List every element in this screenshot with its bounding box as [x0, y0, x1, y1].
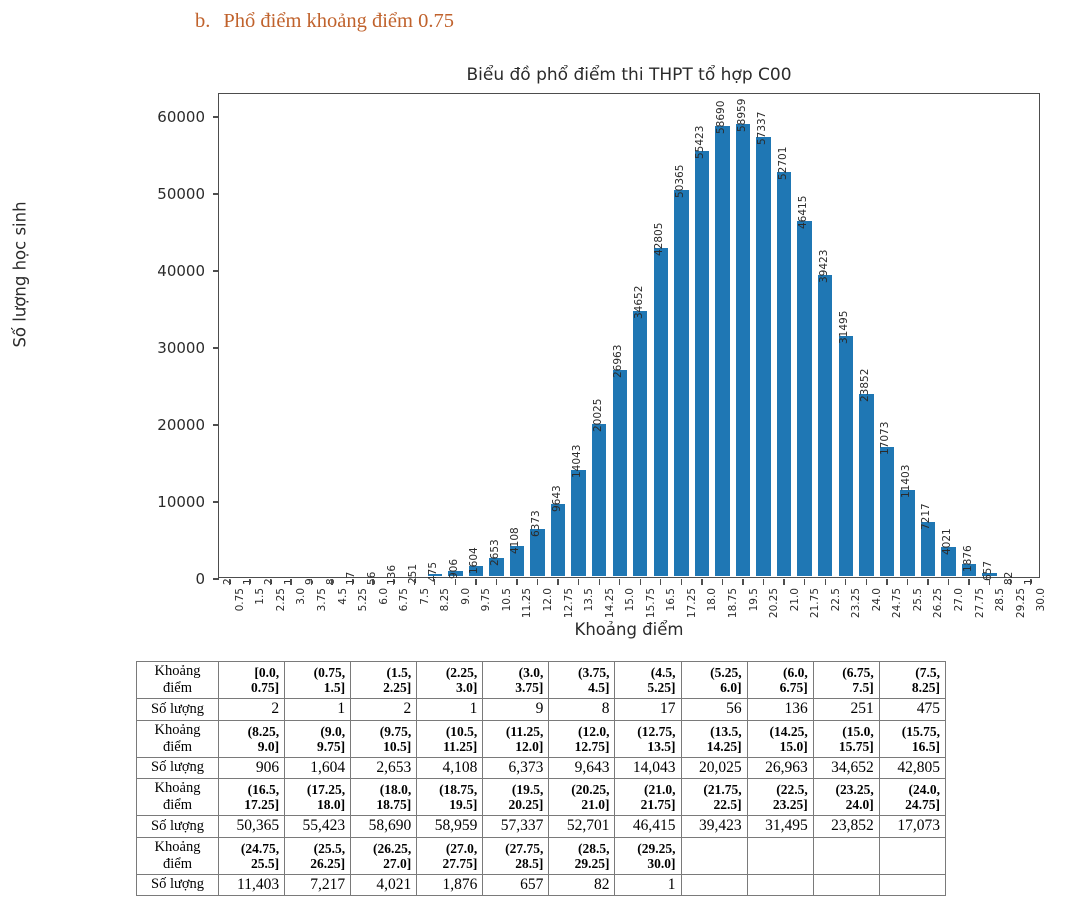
x-tick-label: 6.0: [378, 588, 390, 605]
table-cell-empty: [681, 874, 747, 895]
bar-value-label: 58690: [715, 101, 727, 134]
x-tick-label: 30.0: [1035, 588, 1047, 611]
x-tick-mark: [557, 579, 558, 585]
row-header-interval: Khoảngđiểm: [137, 662, 219, 699]
table-cell-count: 7,217: [285, 874, 351, 895]
bar: [858, 393, 874, 577]
y-tick-mark: [213, 347, 219, 348]
x-tick-mark: [681, 579, 682, 585]
x-tick-mark: [270, 579, 271, 585]
table-cell-interval: (14.25, 15.0]: [747, 720, 813, 757]
x-tick-mark: [1010, 579, 1011, 585]
table-row: Khoảngđiểm(16.5, 17.25](17.25, 18.0](18.…: [137, 779, 946, 816]
table-cell-interval: (0.75, 1.5]: [285, 662, 351, 699]
x-tick-mark: [475, 579, 476, 585]
x-tick-mark: [640, 579, 641, 585]
table-cell-interval: (24.0, 24.75]: [879, 779, 945, 816]
bar-value-label: 14043: [571, 444, 583, 477]
table-row: Số lượng2121981756136251475: [137, 699, 946, 720]
table-cell-count: 251: [813, 699, 879, 720]
row-header-interval: Khoảngđiểm: [137, 720, 219, 757]
bar-value-label: 31495: [838, 310, 850, 343]
y-axis-label: Số lượng học sinh: [11, 145, 30, 405]
table-cell-interval: (18.0, 18.75]: [351, 779, 417, 816]
table-cell-count: 6,373: [483, 757, 549, 778]
x-tick-label: 23.25: [850, 588, 862, 618]
x-tick-mark: [434, 579, 435, 585]
bar-value-label: 906: [448, 559, 460, 579]
table-cell-count: 39,423: [681, 816, 747, 837]
bar: [899, 489, 915, 577]
table-cell-empty: [879, 837, 945, 874]
bar-value-label: 58959: [736, 99, 748, 132]
x-tick-mark: [742, 579, 743, 585]
bar: [303, 575, 319, 577]
row-header-count: Số lượng: [137, 816, 219, 837]
bar: [221, 575, 237, 577]
x-tick-label: 15.0: [624, 588, 636, 611]
table-cell-empty: [813, 837, 879, 874]
x-tick-mark: [311, 579, 312, 585]
table-cell-count: 9,643: [549, 757, 615, 778]
table-cell-count: 82: [549, 874, 615, 895]
bar-value-label: 55423: [694, 126, 706, 159]
x-tick-mark: [578, 579, 579, 585]
table-cell-interval: (15.75, 16.5]: [879, 720, 945, 757]
table-cell-interval: (16.5, 17.25]: [219, 779, 285, 816]
table-cell-count: 14,043: [615, 757, 681, 778]
x-tick-label: 24.75: [891, 588, 903, 618]
x-tick-mark: [866, 579, 867, 585]
x-tick-label: 10.5: [501, 588, 513, 611]
x-tick-mark: [537, 579, 538, 585]
x-tick-label: 0.75: [234, 588, 246, 611]
table-cell-count: 42,805: [879, 757, 945, 778]
table-row: Số lượng11,4037,2174,0211,876657821: [137, 874, 946, 895]
bar: [591, 423, 607, 577]
table-cell-interval: (19.5, 20.25]: [483, 779, 549, 816]
table-cell-interval: (2.25, 3.0]: [417, 662, 483, 699]
y-tick-mark: [213, 578, 219, 579]
x-tick-label: 26.25: [932, 588, 944, 618]
x-tick-mark: [783, 579, 784, 585]
x-tick-mark: [455, 579, 456, 585]
x-tick-mark: [1030, 579, 1031, 585]
table-cell-interval: [0.0, 0.75]: [219, 662, 285, 699]
bar-value-label: 17073: [879, 421, 891, 454]
x-tick-label: 9.0: [460, 588, 472, 605]
table-cell-interval: (11.25, 12.0]: [483, 720, 549, 757]
x-tick-label: 18.0: [706, 588, 718, 611]
x-tick-mark: [927, 579, 928, 585]
table-cell-count: 9: [483, 699, 549, 720]
score-table-wrap: Khoảngđiểm[0.0, 0.75](0.75, 1.5](1.5, 2.…: [136, 661, 946, 896]
bar-value-label: 50365: [674, 165, 686, 198]
table-cell-interval: (12.0, 12.75]: [549, 720, 615, 757]
table-cell-interval: (9.75, 10.5]: [351, 720, 417, 757]
y-tick-label: 0: [115, 570, 205, 588]
bar: [283, 575, 299, 577]
y-tick-label: 60000: [115, 108, 205, 126]
table-cell-count: 1: [417, 699, 483, 720]
x-tick-label: 2.25: [275, 588, 287, 611]
x-tick-mark: [393, 579, 394, 585]
x-tick-label: 17.25: [686, 588, 698, 618]
bar: [262, 575, 278, 577]
table-cell-count: 475: [879, 699, 945, 720]
x-tick-label: 20.25: [768, 588, 780, 618]
table-cell-count: 31,495: [747, 816, 813, 837]
bar-value-label: 39423: [818, 249, 830, 282]
table-cell-count: 17,073: [879, 816, 945, 837]
x-tick-label: 6.75: [398, 588, 410, 611]
bar-value-label: 52701: [777, 147, 789, 180]
x-tick-label: 12.0: [542, 588, 554, 611]
table-cell-count: 2: [219, 699, 285, 720]
table-cell-count: 657: [483, 874, 549, 895]
score-distribution-table: Khoảngđiểm[0.0, 0.75](0.75, 1.5](1.5, 2.…: [136, 661, 946, 896]
table-cell-interval: (1.5, 2.25]: [351, 662, 417, 699]
table-cell-interval: (15.0, 15.75]: [813, 720, 879, 757]
x-tick-mark: [948, 579, 949, 585]
table-cell-interval: (7.5, 8.25]: [879, 662, 945, 699]
x-tick-label: 18.75: [727, 588, 739, 618]
table-cell-interval: (13.5, 14.25]: [681, 720, 747, 757]
section-heading: b. Phổ điểm khoảng điểm 0.75: [195, 10, 454, 33]
x-tick-mark: [701, 579, 702, 585]
page-root: b. Phổ điểm khoảng điểm 0.75 Biểu đồ phổ…: [0, 0, 1080, 908]
y-tick-mark: [213, 116, 219, 117]
bar-value-label: 6373: [530, 510, 542, 537]
bar-value-label: 2653: [489, 539, 501, 566]
table-cell-count: 11,403: [219, 874, 285, 895]
x-tick-mark: [516, 579, 517, 585]
x-tick-mark: [825, 579, 826, 585]
x-tick-mark: [229, 579, 230, 585]
x-tick-mark: [989, 579, 990, 585]
table-cell-count: 8: [549, 699, 615, 720]
x-tick-label: 3.0: [295, 588, 307, 605]
y-tick-label: 10000: [115, 493, 205, 511]
x-tick-label: 25.5: [912, 588, 924, 611]
table-cell-count: 52,701: [549, 816, 615, 837]
table-cell-interval: (3.75, 4.5]: [549, 662, 615, 699]
x-tick-mark: [249, 579, 250, 585]
x-tick-mark: [496, 579, 497, 585]
table-cell-count: 1: [285, 699, 351, 720]
table-cell-count: 23,852: [813, 816, 879, 837]
x-tick-mark: [619, 579, 620, 585]
table-cell-count: 58,959: [417, 816, 483, 837]
row-header-count: Số lượng: [137, 757, 219, 778]
table-cell-interval: (3.0, 3.75]: [483, 662, 549, 699]
x-tick-mark: [804, 579, 805, 585]
table-cell-count: 2: [351, 699, 417, 720]
bar-value-label: 42805: [653, 223, 665, 256]
x-tick-mark: [763, 579, 764, 585]
table-cell-empty: [747, 837, 813, 874]
table-cell-empty: [747, 874, 813, 895]
table-cell-count: 2,653: [351, 757, 417, 778]
x-tick-label: 3.75: [316, 588, 328, 611]
y-tick-label: 30000: [115, 339, 205, 357]
heading-marker: b.: [195, 10, 210, 33]
x-tick-label: 28.5: [994, 588, 1006, 611]
x-tick-label: 7.5: [419, 588, 431, 605]
x-tick-mark: [968, 579, 969, 585]
bar-value-label: 57337: [756, 111, 768, 144]
bar-value-label: 4021: [941, 528, 953, 555]
table-cell-empty: [813, 874, 879, 895]
table-cell-empty: [681, 837, 747, 874]
row-header-count: Số lượng: [137, 699, 219, 720]
x-tick-mark: [907, 579, 908, 585]
x-axis-label: Khoảng điểm: [218, 620, 1040, 639]
bar-value-label: 26963: [612, 345, 624, 378]
table-cell-interval: (23.25, 24.0]: [813, 779, 879, 816]
row-header-interval: Khoảngđiểm: [137, 837, 219, 874]
bar: [653, 247, 669, 577]
x-tick-mark: [290, 579, 291, 585]
x-tick-label: 19.5: [748, 588, 760, 611]
table-cell-interval: (10.5, 11.25]: [417, 720, 483, 757]
table-cell-interval: (6.75, 7.5]: [813, 662, 879, 699]
bar-value-label: 23852: [859, 369, 871, 402]
bar: [879, 446, 895, 577]
table-cell-interval: (27.0, 27.75]: [417, 837, 483, 874]
table-cell-interval: (28.5, 29.25]: [549, 837, 615, 874]
table-cell-count: 136: [747, 699, 813, 720]
x-tick-label: 9.75: [480, 588, 492, 611]
bar-value-label: 46415: [797, 195, 809, 228]
table-cell-count: 55,423: [285, 816, 351, 837]
x-tick-label: 22.5: [830, 588, 842, 611]
x-tick-mark: [845, 579, 846, 585]
chart-figure: Biểu đồ phổ điểm thi THPT tổ hợp C00 Số …: [0, 55, 1080, 655]
table-cell-empty: [879, 874, 945, 895]
plot-area: 010000200003000040000500006000020.7511.5…: [218, 93, 1040, 578]
table-cell-interval: (25.5, 26.25]: [285, 837, 351, 874]
x-tick-label: 21.75: [809, 588, 821, 618]
table-row: Khoảngđiểm(24.75, 25.5](25.5, 26.25](26.…: [137, 837, 946, 874]
x-tick-mark: [660, 579, 661, 585]
table-cell-interval: (4.5, 5.25]: [615, 662, 681, 699]
chart-title: Biểu đồ phổ điểm thi THPT tổ hợp C00: [218, 65, 1040, 85]
bar: [714, 125, 730, 577]
table-cell-interval: (17.25, 18.0]: [285, 779, 351, 816]
table-cell-interval: (29.25, 30.0]: [615, 837, 681, 874]
y-tick-label: 50000: [115, 185, 205, 203]
x-tick-label: 1.5: [254, 588, 266, 605]
x-tick-mark: [599, 579, 600, 585]
table-cell-interval: (22.5, 23.25]: [747, 779, 813, 816]
bar: [776, 171, 792, 577]
heading-text: Phổ điểm khoảng điểm 0.75: [223, 10, 454, 33]
x-tick-label: 27.75: [974, 588, 986, 618]
table-cell-interval: (20.25, 21.0]: [549, 779, 615, 816]
x-tick-mark: [886, 579, 887, 585]
table-cell-interval: (21.75, 22.5]: [681, 779, 747, 816]
table-cell-count: 4,021: [351, 874, 417, 895]
bar: [673, 189, 689, 577]
table-row: Khoảngđiểm[0.0, 0.75](0.75, 1.5](1.5, 2.…: [137, 662, 946, 699]
bar: [735, 123, 751, 577]
bar: [817, 274, 833, 577]
table-cell-interval: (6.0, 6.75]: [747, 662, 813, 699]
table-cell-count: 906: [219, 757, 285, 778]
x-tick-mark: [372, 579, 373, 585]
bar-value-label: 7217: [920, 504, 932, 531]
bar-value-label: 4108: [509, 528, 521, 555]
table-cell-count: 34,652: [813, 757, 879, 778]
row-header-interval: Khoảngđiểm: [137, 779, 219, 816]
x-tick-label: 8.25: [439, 588, 451, 611]
bar: [1023, 575, 1039, 577]
table-cell-count: 1: [615, 874, 681, 895]
bar: [570, 469, 586, 577]
bar-value-label: 657: [982, 561, 994, 581]
x-tick-label: 29.25: [1015, 588, 1027, 618]
x-tick-label: 14.25: [604, 588, 616, 618]
table-cell-count: 1,876: [417, 874, 483, 895]
bar-value-label: 1604: [468, 547, 480, 574]
table-cell-count: 58,690: [351, 816, 417, 837]
x-tick-mark: [331, 579, 332, 585]
table-cell-count: 1,604: [285, 757, 351, 778]
table-cell-interval: (5.25, 6.0]: [681, 662, 747, 699]
table-row: Số lượng50,36555,42358,69058,95957,33752…: [137, 816, 946, 837]
table-cell-interval: (26.25, 27.0]: [351, 837, 417, 874]
x-tick-mark: [352, 579, 353, 585]
y-tick-label: 40000: [115, 262, 205, 280]
bar: [796, 220, 812, 577]
bar-value-label: 34652: [633, 286, 645, 319]
x-tick-label: 16.5: [665, 588, 677, 611]
bar: [324, 575, 340, 577]
table-cell-count: 4,108: [417, 757, 483, 778]
table-cell-interval: (18.75, 19.5]: [417, 779, 483, 816]
bar-value-label: 20025: [592, 398, 604, 431]
x-tick-label: 27.0: [953, 588, 965, 611]
y-tick-label: 20000: [115, 416, 205, 434]
bar: [755, 136, 771, 577]
table-cell-count: 17: [615, 699, 681, 720]
x-tick-label: 21.0: [789, 588, 801, 611]
bar: [838, 335, 854, 577]
table-cell-interval: (27.75, 28.5]: [483, 837, 549, 874]
table-cell-count: 56: [681, 699, 747, 720]
table-cell-count: 20,025: [681, 757, 747, 778]
bar: [694, 150, 710, 577]
x-tick-label: 4.5: [337, 588, 349, 605]
y-tick-mark: [213, 424, 219, 425]
x-tick-label: 13.5: [583, 588, 595, 611]
row-header-count: Số lượng: [137, 874, 219, 895]
bar: [612, 369, 628, 577]
x-tick-label: 24.0: [871, 588, 883, 611]
x-tick-label: 15.75: [645, 588, 657, 618]
y-tick-mark: [213, 270, 219, 271]
x-tick-mark: [414, 579, 415, 585]
table-row: Số lượng9061,6042,6534,1086,3739,64314,0…: [137, 757, 946, 778]
x-tick-label: 12.75: [563, 588, 575, 618]
table-cell-count: 50,365: [219, 816, 285, 837]
table-cell-count: 57,337: [483, 816, 549, 837]
table-cell-interval: (12.75, 13.5]: [615, 720, 681, 757]
y-tick-mark: [213, 501, 219, 502]
table-cell-interval: (24.75, 25.5]: [219, 837, 285, 874]
table-cell-interval: (8.25, 9.0]: [219, 720, 285, 757]
x-tick-label: 5.25: [357, 588, 369, 611]
bar-value-label: 9643: [551, 485, 563, 512]
bar: [242, 575, 258, 577]
bar: [550, 503, 566, 577]
table-cell-interval: (9.0, 9.75]: [285, 720, 351, 757]
bar-value-label: 1876: [962, 545, 974, 572]
table-cell-count: 26,963: [747, 757, 813, 778]
y-tick-mark: [213, 193, 219, 194]
x-tick-mark: [722, 579, 723, 585]
bar-value-label: 11403: [900, 465, 912, 498]
bar: [632, 310, 648, 577]
x-tick-label: 11.25: [521, 588, 533, 618]
table-cell-count: 46,415: [615, 816, 681, 837]
table-cell-interval: (21.0, 21.75]: [615, 779, 681, 816]
table-row: Khoảngđiểm(8.25, 9.0](9.0, 9.75](9.75, 1…: [137, 720, 946, 757]
